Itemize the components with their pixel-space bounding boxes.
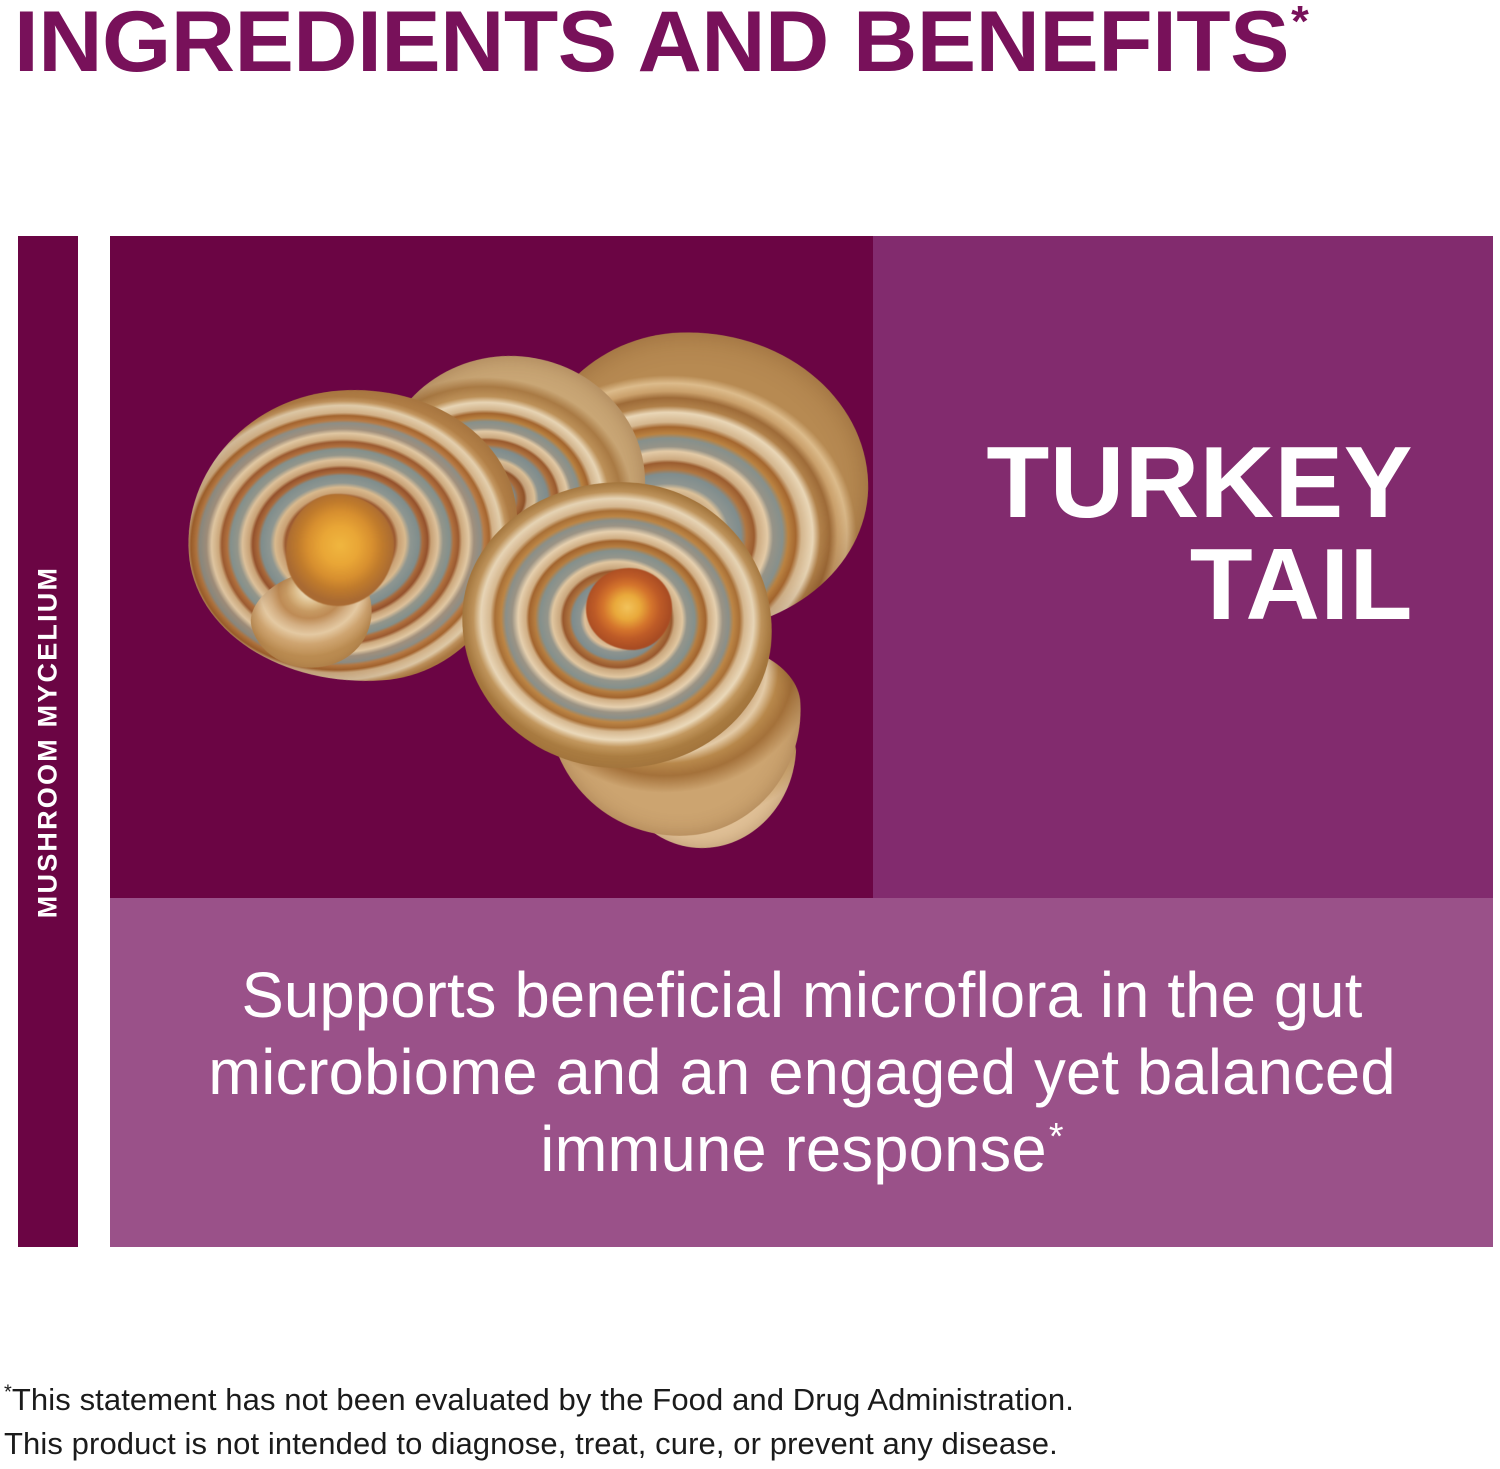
ingredient-name-line-1: TURKEY	[934, 432, 1413, 534]
ingredient-name: TURKEY TAIL	[934, 432, 1413, 636]
mushroom-core-right	[586, 568, 672, 650]
disclaimer-footnote-asterisk: *	[4, 1382, 12, 1404]
disclaimer-line-1: *This statement has not been evaluated b…	[4, 1378, 1304, 1422]
benefit-footnote-asterisk: *	[1048, 1116, 1063, 1158]
ingredient-name-line-2: TAIL	[934, 534, 1413, 636]
disclaimer-line-2: This product is not intended to diagnose…	[4, 1422, 1304, 1466]
benefit-band: Supports beneficial microflora in the gu…	[110, 898, 1493, 1247]
page-title: INGREDIENTS AND BENEFITS*	[14, 0, 1500, 90]
ingredient-name-panel: TURKEY TAIL	[873, 236, 1493, 898]
disclaimer: *This statement has not been evaluated b…	[4, 1378, 1304, 1466]
page-title-footnote-asterisk: *	[1291, 0, 1308, 44]
category-bar-label: MUSHROOM MYCELIUM	[33, 565, 64, 917]
turkey-tail-mushroom-image	[110, 236, 873, 898]
category-bar: MUSHROOM MYCELIUM	[18, 236, 78, 1247]
ingredient-photo-panel	[110, 236, 873, 898]
page-title-text: INGREDIENTS AND BENEFITS	[14, 0, 1289, 90]
disclaimer-line-1-text: This statement has not been evaluated by…	[12, 1382, 1074, 1417]
benefit-description: Supports beneficial microflora in the gu…	[183, 957, 1421, 1188]
benefit-description-text: Supports beneficial microflora in the gu…	[208, 959, 1396, 1185]
ingredient-card: TURKEY TAIL Supports beneficial microflo…	[110, 236, 1493, 1247]
ingredient-card-top: TURKEY TAIL	[110, 236, 1493, 898]
